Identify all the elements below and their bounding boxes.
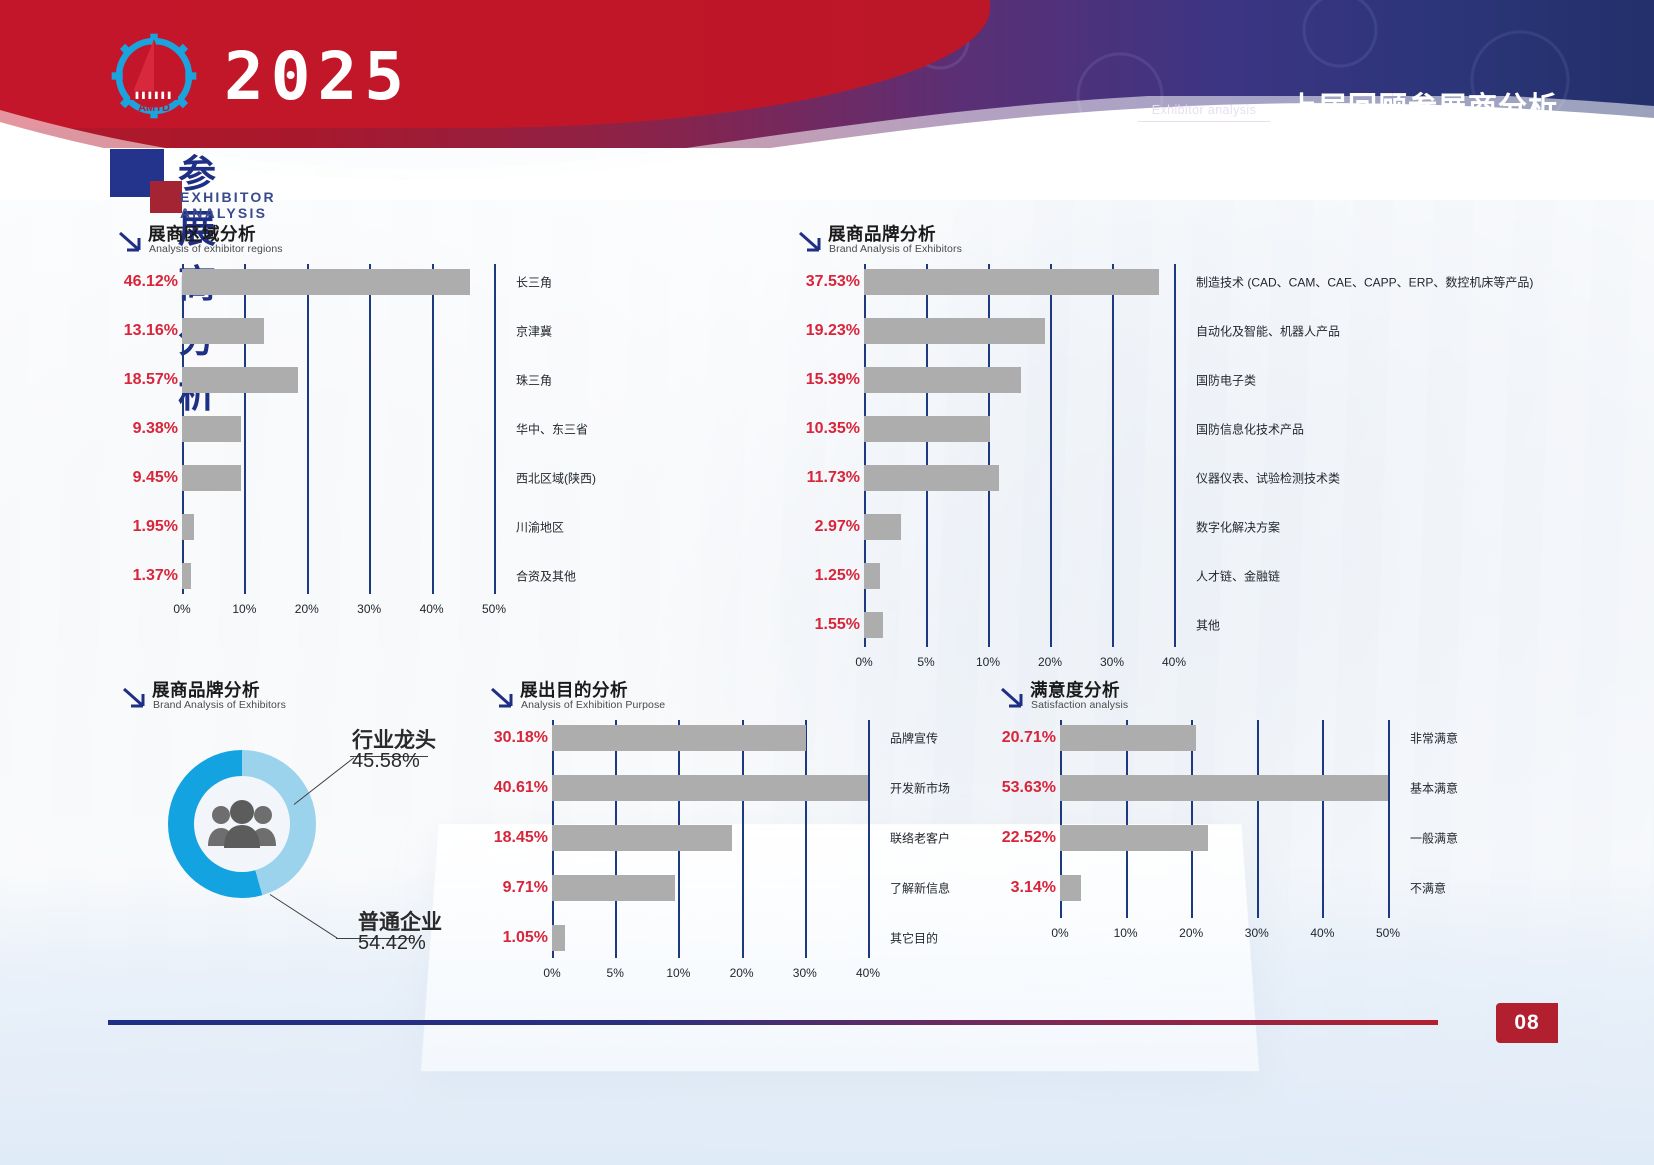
chart-gridline [369,264,371,594]
header-underline [1138,121,1270,122]
chart-brand-donut: 展商品牌分析 Brand Analysis of Exhibitors [122,680,542,720]
chart-x-tick-label: 20% [730,966,754,980]
chart-category-label: 人才链、金融链 [1196,568,1280,585]
chart-category-label: 仪器仪表、试验检测技术类 [1196,470,1340,487]
chart-x-tick-label: 0% [855,655,872,669]
chart-bar [1060,775,1388,801]
footer-divider [108,1020,1438,1025]
donut-center [194,776,290,872]
chart-value-label: 1.37% [118,567,178,585]
chart-x-tick-label: 20% [295,602,319,616]
chart-x-tick-label: 0% [543,966,560,980]
slide-page: AMTD 2025 Exhibitor analysis 上届回顾参展商分析 参… [0,0,1654,1165]
chart-value-label: 18.57% [118,371,178,389]
chart-value-label: 1.25% [798,567,860,585]
amtd-logo-icon: AMTD [108,30,200,122]
chart-gridline [805,720,807,958]
chart-category-label: 非常满意 [1410,730,1458,747]
chart-category-label: 自动化及智能、机器人产品 [1196,323,1340,340]
chart-exhibition-purpose: 展出目的分析 Analysis of Exhibition Purpose 0%… [490,680,1050,986]
arrow-down-right-icon [798,230,824,254]
donut-value-regular: 54.42% [358,932,426,955]
chart-value-label: 3.14% [1000,879,1056,897]
chart-gridline [1388,720,1390,918]
chart-bar [552,725,806,751]
chart-value-label: 15.39% [798,371,860,389]
chart-bar [864,514,901,540]
chart-x-tick-label: 10% [1114,926,1138,940]
chart-gridline [1112,264,1114,647]
chart-bar [1060,875,1081,901]
chart-value-label: 10.35% [798,420,860,438]
chart-category-label: 合资及其他 [516,568,576,585]
svg-text:AMTD: AMTD [138,102,170,114]
chart-bar [182,563,191,589]
chart-exhibitor-brands: 展商品牌分析 Brand Analysis of Exhibitors 0%5%… [798,224,1498,675]
chart-gridline [494,264,496,594]
chart-value-label: 9.45% [118,469,178,487]
header-en-label: Exhibitor analysis [1152,103,1256,117]
people-icon [206,798,278,850]
chart-category-label: 了解新信息 [890,880,950,897]
chart-gridline [1050,264,1052,647]
donut-value-leader: 45.58% [352,750,420,773]
chart-x-tick-label: 5% [607,966,624,980]
chart-value-label: 2.97% [798,518,860,536]
chart-value-label: 11.73% [798,469,860,487]
chart-category-label: 京津冀 [516,323,552,340]
chart-x-tick-label: 20% [1038,655,1062,669]
chart-x-tick-label: 50% [482,602,506,616]
chart-x-tick-label: 0% [1051,926,1068,940]
chart-gridline [868,720,870,958]
chart-bar [864,367,1021,393]
chart-plot-area: 0%10%20%30%40%50%46.12%长三角13.16%京津冀18.57… [118,264,678,622]
page-number: 08 [1514,1011,1539,1035]
year-title: 2025 [224,38,411,115]
chart-title-block: 满意度分析 Satisfaction analysis [1000,680,1560,720]
chart-x-tick-label: 40% [1162,655,1186,669]
chart-x-tick-label: 40% [420,602,444,616]
chart-bar [182,269,470,295]
chart-gridline [1257,720,1259,918]
chart-value-label: 9.71% [490,879,548,897]
chart-bar [182,514,194,540]
chart-exhibitor-regions: 展商区域分析 Analysis of exhibitor regions 0%1… [118,224,678,622]
chart-title-en: Analysis of Exhibition Purpose [521,699,665,711]
chart-x-tick-label: 30% [793,966,817,980]
chart-bar [182,318,264,344]
chart-value-label: 22.52% [1000,829,1056,847]
chart-x-tick-label: 10% [232,602,256,616]
chart-category-label: 西北区域(陕西) [516,470,596,487]
chart-satisfaction: 满意度分析 Satisfaction analysis 0%10%20%30%4… [1000,680,1560,946]
chart-bar [864,612,883,638]
chart-bar [1060,725,1196,751]
section-title-en: EXHIBITOR ANALYSIS [180,189,276,221]
chart-title-block: 展出目的分析 Analysis of Exhibition Purpose [490,680,1050,720]
chart-gridline [244,264,246,594]
chart-gridline [1174,264,1176,647]
chart-category-label: 国防电子类 [1196,372,1256,389]
chart-x-tick-label: 40% [1310,926,1334,940]
chart-plot-area: 0%10%20%30%40%50%20.71%非常满意53.63%基本满意22.… [1000,720,1560,946]
chart-category-label: 其他 [1196,617,1220,634]
chart-bar [182,367,298,393]
chart-title-en: Satisfaction analysis [1031,699,1128,711]
chart-value-label: 30.18% [490,729,548,747]
chart-bar [552,775,868,801]
chart-category-label: 基本满意 [1410,780,1458,797]
chart-value-label: 18.45% [490,829,548,847]
chart-category-label: 一般满意 [1410,830,1458,847]
chart-x-tick-label: 30% [1245,926,1269,940]
chart-category-label: 制造技术 (CAD、CAM、CAE、CAPP、ERP、数控机床等产品) [1196,274,1533,291]
chart-bar [552,825,732,851]
chart-x-tick-label: 30% [1100,655,1124,669]
chart-category-label: 品牌宣传 [890,730,938,747]
donut-leader-line-2 [270,894,338,938]
chart-title-en: Brand Analysis of Exhibitors [829,243,962,255]
chart-title-block: 展商品牌分析 Brand Analysis of Exhibitors [798,224,1498,264]
chart-x-tick-label: 30% [357,602,381,616]
chart-bar [1060,825,1208,851]
arrow-down-right-icon [122,686,148,710]
chart-bar [864,318,1045,344]
chart-x-tick-label: 40% [856,966,880,980]
chart-value-label: 19.23% [798,322,860,340]
chart-bar [182,465,241,491]
chart-x-tick-label: 50% [1376,926,1400,940]
header-cn-title: 上届回顾参展商分析 [1288,84,1558,126]
chart-category-label: 川渝地区 [516,519,564,536]
chart-value-label: 37.53% [798,273,860,291]
chart-bar [864,465,999,491]
chart-value-label: 20.71% [1000,729,1056,747]
chart-value-label: 1.55% [798,616,860,634]
donut-ring [168,750,316,898]
chart-category-label: 开发新市场 [890,780,950,797]
arrow-down-right-icon [1000,686,1026,710]
chart-category-label: 长三角 [516,274,552,291]
chart-bar [864,563,880,589]
arrow-down-right-icon [118,230,144,254]
chart-title-block: 展商品牌分析 Brand Analysis of Exhibitors [122,680,542,720]
chart-category-label: 珠三角 [516,372,552,389]
chart-value-label: 53.63% [1000,779,1056,797]
header-en-wrap: Exhibitor analysis [1138,103,1270,122]
chart-value-label: 1.95% [118,518,178,536]
donut-area: 行业龙头 45.58% 普通企业 54.42% [122,716,542,946]
chart-category-label: 国防信息化技术产品 [1196,421,1304,438]
chart-bar [182,416,241,442]
chart-category-label: 数字化解决方案 [1196,519,1280,536]
page-number-tab: 08 [1496,1003,1558,1043]
header-right-title: Exhibitor analysis 上届回顾参展商分析 [1138,84,1558,126]
chart-x-tick-label: 20% [1179,926,1203,940]
chart-bar [552,875,675,901]
chart-value-label: 9.38% [118,420,178,438]
chart-category-label: 联络老客户 [890,830,950,847]
chart-x-tick-label: 5% [917,655,934,669]
chart-value-label: 13.16% [118,322,178,340]
chart-x-tick-label: 10% [976,655,1000,669]
chart-value-label: 1.05% [490,929,548,947]
chart-category-label: 华中、东三省 [516,421,588,438]
chart-title-en: Analysis of exhibitor regions [149,243,283,255]
chart-gridline [742,720,744,958]
chart-x-tick-label: 10% [666,966,690,980]
chart-title-en: Brand Analysis of Exhibitors [153,699,286,711]
chart-bar [552,925,565,951]
chart-plot-area: 0%5%10%20%30%40%30.18%品牌宣传40.61%开发新市场18.… [490,720,1050,986]
chart-bar [864,269,1159,295]
chart-value-label: 40.61% [490,779,548,797]
chart-gridline [307,264,309,594]
chart-gridline [432,264,434,594]
chart-category-label: 不满意 [1410,880,1446,897]
chart-plot-area: 0%5%10%20%30%40%37.53%制造技术 (CAD、CAM、CAE、… [798,264,1498,675]
chart-bar [864,416,990,442]
chart-category-label: 其它目的 [890,930,938,947]
chart-title-block: 展商区域分析 Analysis of exhibitor regions [118,224,678,264]
chart-value-label: 46.12% [118,273,178,291]
arrow-down-right-icon [490,686,516,710]
page-header: AMTD 2025 Exhibitor analysis 上届回顾参展商分析 [0,0,1654,200]
chart-x-tick-label: 0% [173,602,190,616]
chart-gridline [1322,720,1324,918]
